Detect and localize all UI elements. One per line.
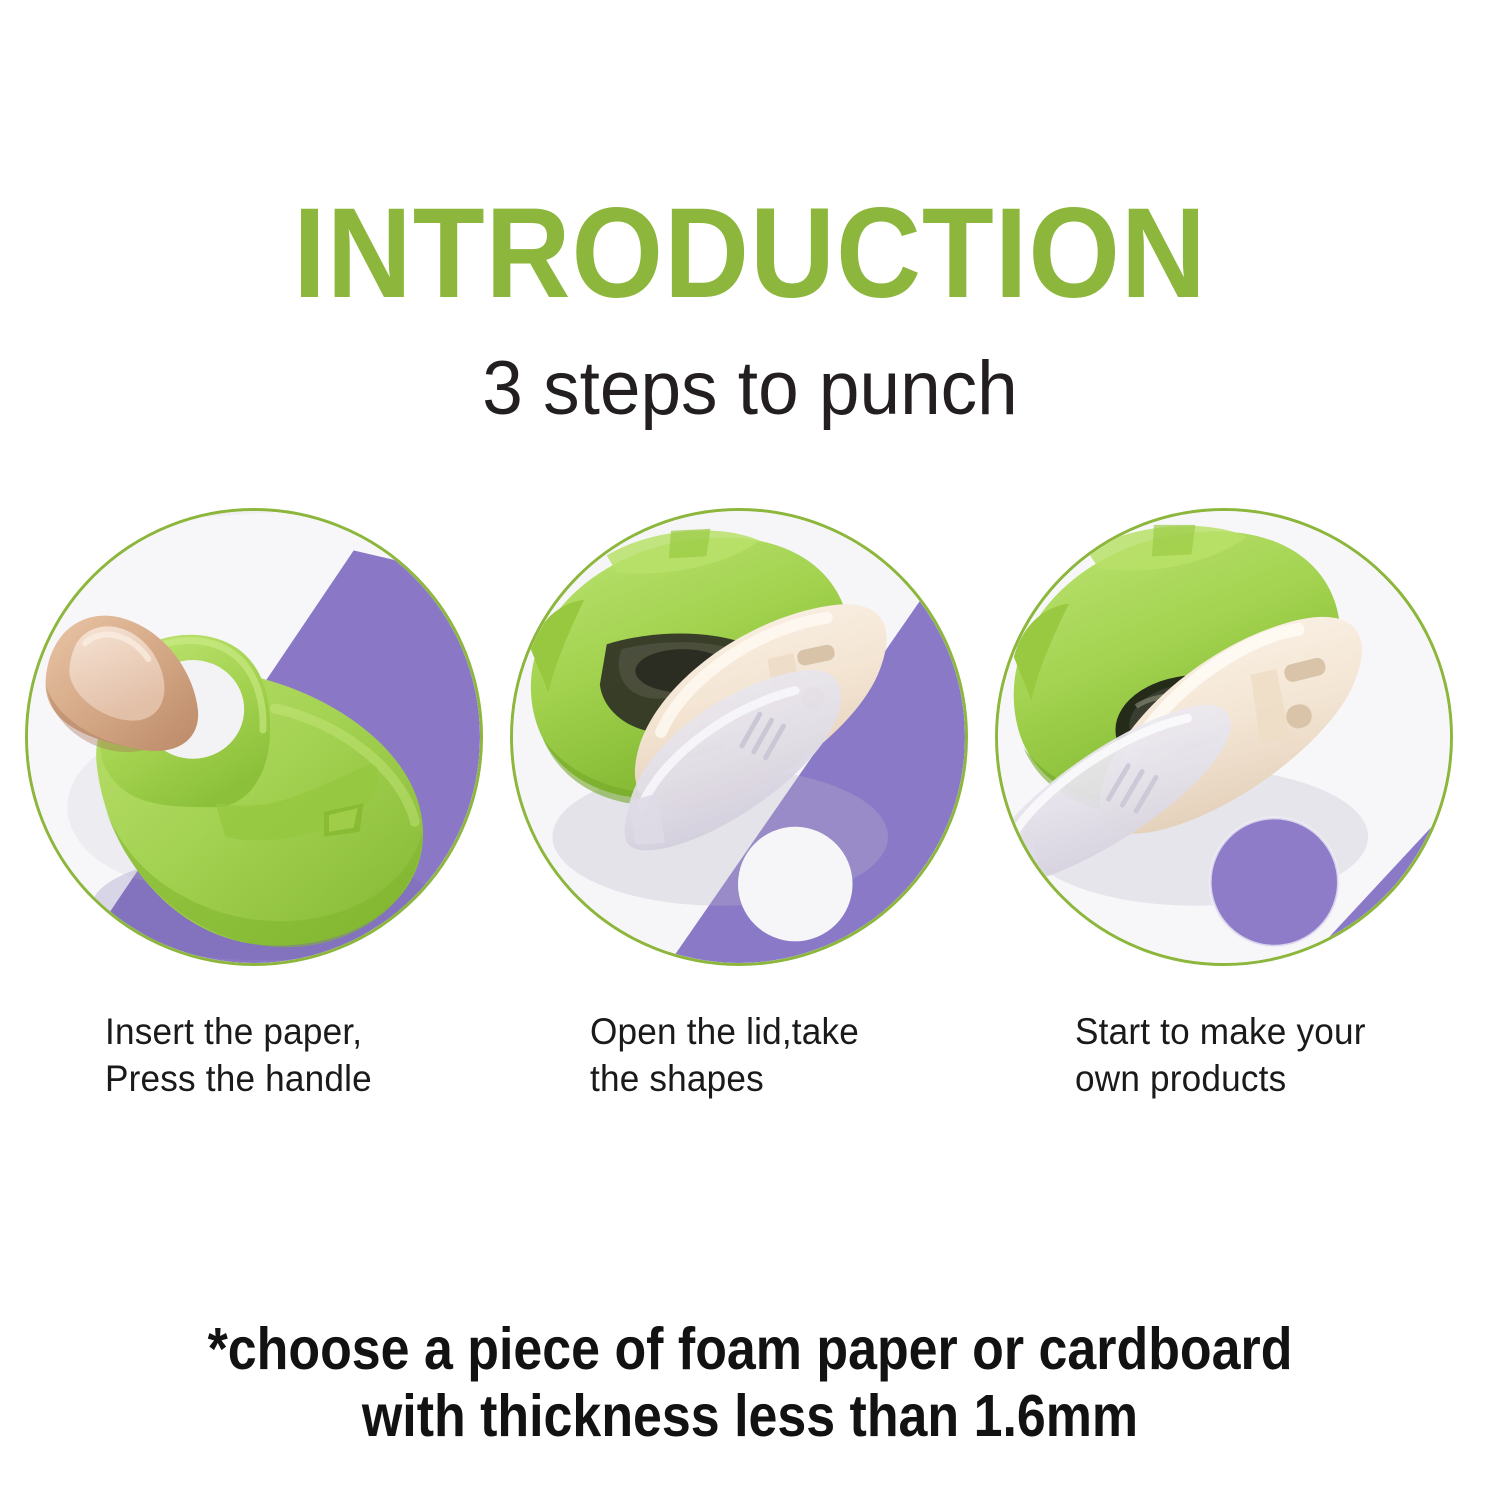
steps-row: Insert the paper, Press the handle xyxy=(0,508,1500,1128)
step-3-caption: Start to make your own products xyxy=(1075,1008,1455,1103)
photo-insert-paper-press-handle xyxy=(25,508,483,966)
page-subtitle: 3 steps to punch xyxy=(30,351,1470,427)
photo-open-lid-take-shapes xyxy=(510,508,968,966)
footnote-text: *choose a piece of foam paper or cardboa… xyxy=(90,1316,1410,1451)
step-2: Open the lid,take the shapes xyxy=(510,508,970,1128)
step-2-caption: Open the lid,take the shapes xyxy=(590,1008,970,1103)
step-2-illustration xyxy=(513,511,965,963)
step-1-illustration xyxy=(28,511,480,963)
step-3: Start to make your own products xyxy=(995,508,1455,1128)
photo-start-make-own-products xyxy=(995,508,1453,966)
page-title: INTRODUCTION xyxy=(60,190,1440,318)
step-1: Insert the paper, Press the handle xyxy=(25,508,485,1128)
step-1-caption: Insert the paper, Press the handle xyxy=(105,1008,485,1103)
step-3-illustration xyxy=(998,511,1450,963)
introduction-infographic: INTRODUCTION 3 steps to punch xyxy=(0,0,1500,1500)
